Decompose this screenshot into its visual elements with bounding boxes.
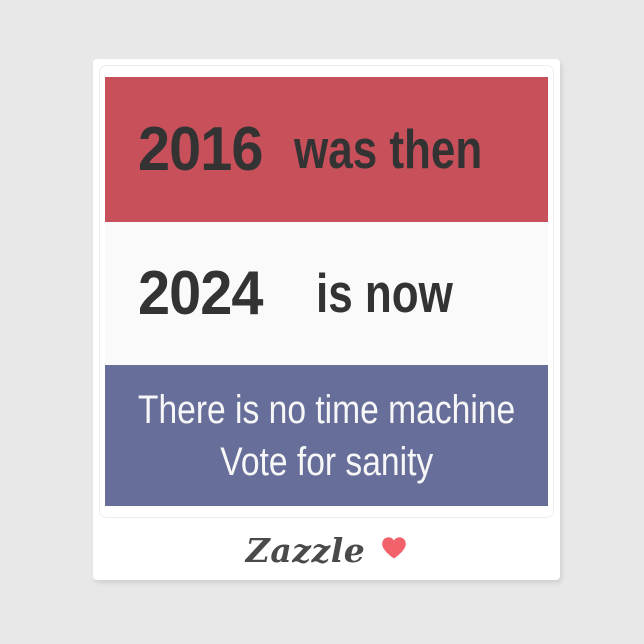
sticker-card: 2016 was then 2024 is now There is no ti… xyxy=(93,59,560,580)
band-then: 2016 was then xyxy=(105,77,548,222)
year-then: 2016 xyxy=(138,119,263,181)
phrase-then: was then xyxy=(294,122,482,177)
band-message: There is no time machine Vote for sanity xyxy=(105,365,548,506)
zazzle-wordmark: Zazzle xyxy=(246,531,365,570)
phrase-now: is now xyxy=(316,266,453,321)
year-now: 2024 xyxy=(138,263,263,325)
message-line-2: Vote for sanity xyxy=(220,436,433,488)
heart-icon xyxy=(381,536,407,565)
band-now: 2024 is now xyxy=(105,222,548,365)
message-line-1: There is no time machine xyxy=(138,384,515,436)
sticker-preview-canvas: 2016 was then 2024 is now There is no ti… xyxy=(0,0,644,644)
zazzle-branding: Zazzle xyxy=(93,521,560,580)
sticker-design-panel: 2016 was then 2024 is now There is no ti… xyxy=(99,65,554,518)
